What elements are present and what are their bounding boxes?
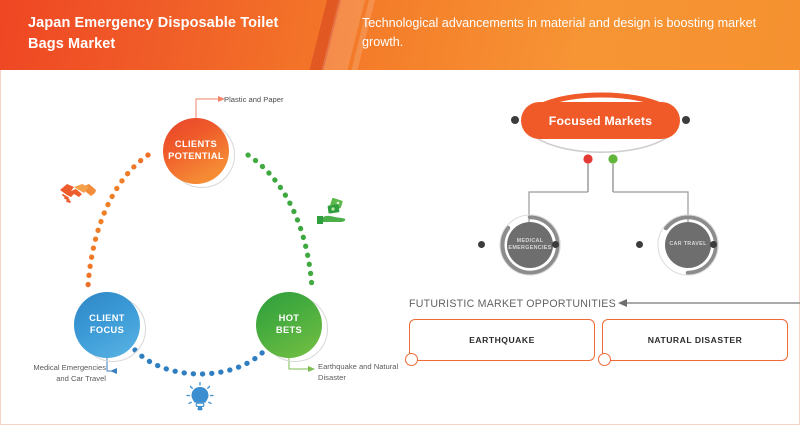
client-focus-node[interactable]: CLIENT FOCUS <box>74 292 140 358</box>
handshake-icon <box>58 176 98 211</box>
clients-potential-node[interactable]: CLIENTS POTENTIAL <box>163 118 229 184</box>
label-medical-and-car: Medical Emergencies and Car Travel <box>26 362 106 384</box>
label-earthquake-and-disaster: Earthquake and Natural Disaster <box>318 361 403 383</box>
market-node-medical-label-2: EMERGENCIES <box>508 245 551 252</box>
client-focus-label-2: FOCUS <box>90 325 124 337</box>
infographic-canvas: Japan Emergency Disposable Toilet Bags M… <box>0 0 800 425</box>
hot-bets-label-2: BETS <box>276 325 302 337</box>
page-title: Japan Emergency Disposable Toilet Bags M… <box>28 13 318 54</box>
market-node-car-travel[interactable]: CAR TRAVEL <box>665 222 711 268</box>
market-node-medical-emergencies[interactable]: MEDICAL EMERGENCIES <box>507 222 553 268</box>
opportunity-marker-natural-disaster <box>598 353 611 366</box>
label-plastic-and-paper: Plastic and Paper <box>224 94 284 105</box>
focused-markets-label: Focused Markets <box>549 114 652 128</box>
money-in-hand-icon <box>314 196 348 235</box>
hot-bets-node[interactable]: HOT BETS <box>256 292 322 358</box>
car-travel-node-dot-left <box>636 241 643 248</box>
lightbulb-icon <box>186 382 214 419</box>
focused-markets-dot-left <box>511 116 519 124</box>
opportunity-label-earthquake: EARTHQUAKE <box>469 335 535 345</box>
client-focus-label-1: CLIENT <box>89 313 125 325</box>
hot-bets-label-1: HOT <box>279 313 300 325</box>
opportunity-box-earthquake[interactable]: EARTHQUAKE <box>409 319 595 361</box>
focused-markets-dot-right <box>682 116 690 124</box>
market-node-medical-label-1: MEDICAL <box>517 238 544 245</box>
medical-node-dot-right <box>552 241 559 248</box>
opportunity-label-natural-disaster: NATURAL DISASTER <box>648 335 743 345</box>
car-travel-node-dot-right <box>710 241 717 248</box>
medical-node-dot-left <box>478 241 485 248</box>
market-node-car-label-1: CAR TRAVEL <box>669 241 706 248</box>
clients-potential-label-2: POTENTIAL <box>168 151 224 163</box>
header-banner: Japan Emergency Disposable Toilet Bags M… <box>0 0 800 70</box>
focused-markets-banner[interactable]: Focused Markets <box>521 102 680 139</box>
clients-potential-label-1: CLIENTS <box>175 139 217 151</box>
opportunity-marker-earthquake <box>405 353 418 366</box>
header-subtitle: Technological advancements in material a… <box>362 14 780 52</box>
opportunities-title: FUTURISTIC MARKET OPPORTUNITIES <box>409 298 616 310</box>
opportunity-box-natural-disaster[interactable]: NATURAL DISASTER <box>602 319 788 361</box>
